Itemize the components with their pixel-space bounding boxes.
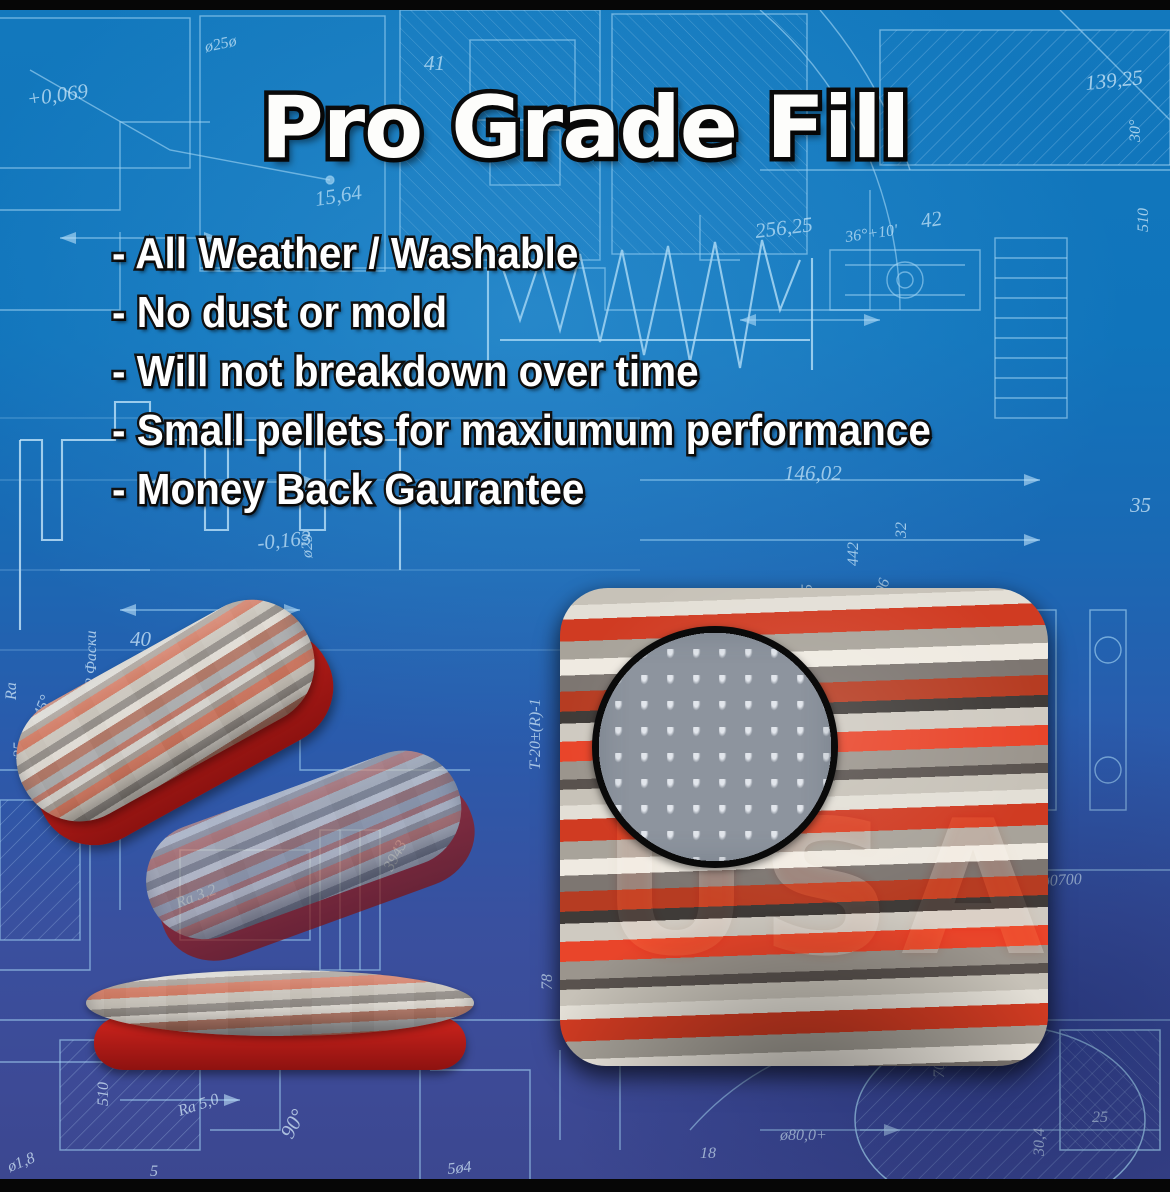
svg-text:78: 78 [539,974,556,990]
feature-item: - No dust or mold [112,291,995,335]
svg-text:15,64: 15,64 [313,180,364,211]
feature-item: - Small pellets for maxiumum performance [112,409,995,453]
feature-list: - All Weather / Washable - No dust or mo… [112,232,1072,527]
svg-text:510: 510 [1135,208,1152,232]
svg-text:ø1,8: ø1,8 [4,1149,37,1176]
svg-text:30,4: 30,4 [1031,1128,1048,1157]
svg-text:ø80,0+: ø80,0+ [779,1127,827,1144]
svg-text:5ø4: 5ø4 [447,1159,473,1178]
feature-item: - All Weather / Washable [112,232,995,276]
bag-fleece-top [86,970,474,1036]
svg-text:18: 18 [700,1145,716,1162]
svg-text:ø25ø: ø25ø [202,32,239,56]
svg-text:510: 510 [95,1082,112,1106]
page-title: Pro Grade Fill [0,88,1170,170]
svg-text:ø29: ø29 [299,534,316,559]
feature-item: - Will not breakdown over time [112,350,995,394]
svg-text:442: 442 [845,542,862,566]
svg-text:25: 25 [1092,1109,1108,1126]
letterbox-bar-top [0,0,1170,10]
svg-text:5: 5 [150,1163,158,1179]
svg-text:T-20±(R)-1: T-20±(R)-1 [527,698,544,770]
product-advertisement-image: +0,069 ø25ø 41 15,64 256,25 36°+10' 42 1… [0,0,1170,1192]
svg-text:42: 42 [919,206,944,233]
feature-item: - Money Back Gaurantee [112,468,995,512]
plastic-pellets-texture [592,626,838,868]
bag-front-bottom [86,964,474,1076]
pellet-magnifier [592,626,838,868]
svg-text:41: 41 [424,51,445,75]
letterbox-bar-bottom [0,1179,1170,1192]
svg-text:35: 35 [1129,493,1151,517]
